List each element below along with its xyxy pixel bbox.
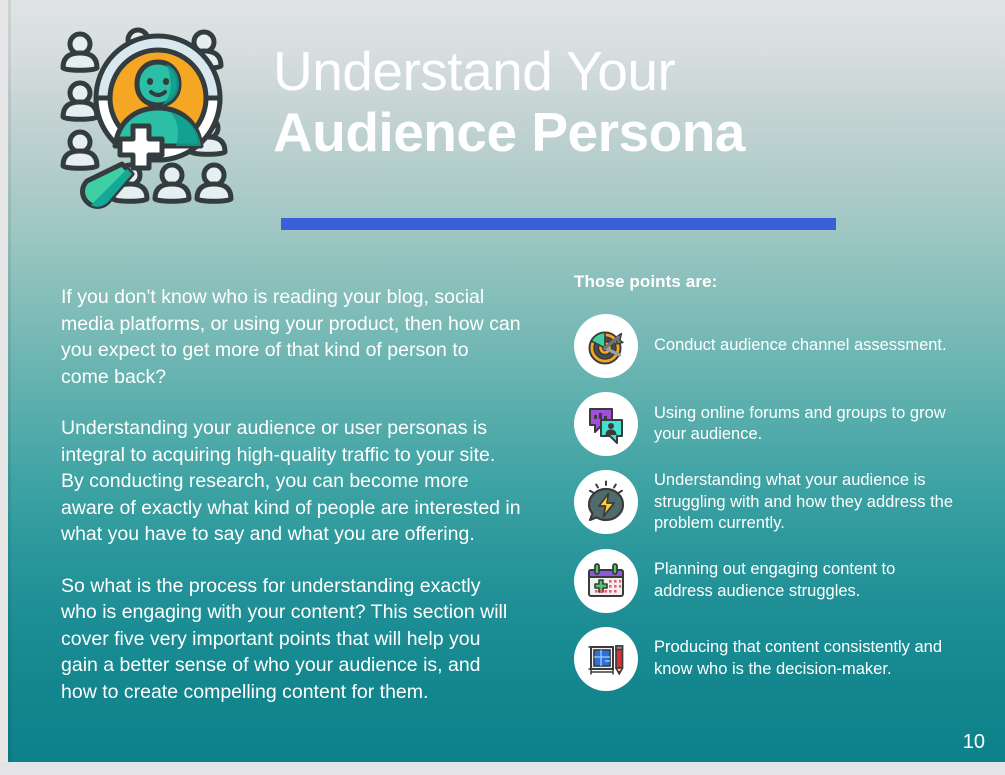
point-text: Conduct audience channel assessment. <box>654 335 947 357</box>
paragraph: So what is the process for understanding… <box>61 573 521 706</box>
left-text-column: If you don't know who is reading your bl… <box>61 284 521 705</box>
page-number: 10 <box>963 731 985 754</box>
point-text: Planning out engaging content to address… <box>654 559 954 602</box>
slide-title: Understand Your Audience Persona <box>273 42 973 164</box>
point-text: Understanding what your audience is stru… <box>654 470 954 535</box>
point-text: Using online forums and groups to grow y… <box>654 403 954 446</box>
target-arrow-icon <box>574 314 638 378</box>
calendar-plus-icon <box>574 549 638 613</box>
slide-bottom-strip <box>0 762 1005 775</box>
point-text: Producing that content consistently and … <box>654 637 954 680</box>
title-line-1: Understand Your <box>273 42 973 101</box>
title-line-2: Audience Persona <box>273 101 973 164</box>
paragraph: Understanding your audience or user pers… <box>61 415 521 548</box>
audience-persona-magnifier-icon <box>48 20 258 210</box>
blueprint-pencil-icon <box>574 627 638 691</box>
paragraph: If you don't know who is reading your bl… <box>61 284 521 390</box>
slide-canvas: Understand Your Audience Persona If you … <box>8 0 1005 762</box>
slide-frame: Understand Your Audience Persona If you … <box>0 0 1005 775</box>
slide-body: If you don't know who is reading your bl… <box>8 272 1005 742</box>
points-heading: Those points are: <box>574 272 974 292</box>
chat-bubbles-icon <box>574 392 638 456</box>
list-item: Conduct audience channel assessment. <box>574 314 974 378</box>
slide-header: Understand Your Audience Persona <box>8 0 1005 240</box>
lightning-speech-bubble-icon <box>574 470 638 534</box>
list-item: Using online forums and groups to grow y… <box>574 392 974 456</box>
list-item: Producing that content consistently and … <box>574 627 974 691</box>
list-item: Planning out engaging content to address… <box>574 549 974 613</box>
title-accent-bar <box>281 218 836 230</box>
right-points-column: Those points are: <box>574 272 974 705</box>
list-item: Understanding what your audience is stru… <box>574 470 974 535</box>
